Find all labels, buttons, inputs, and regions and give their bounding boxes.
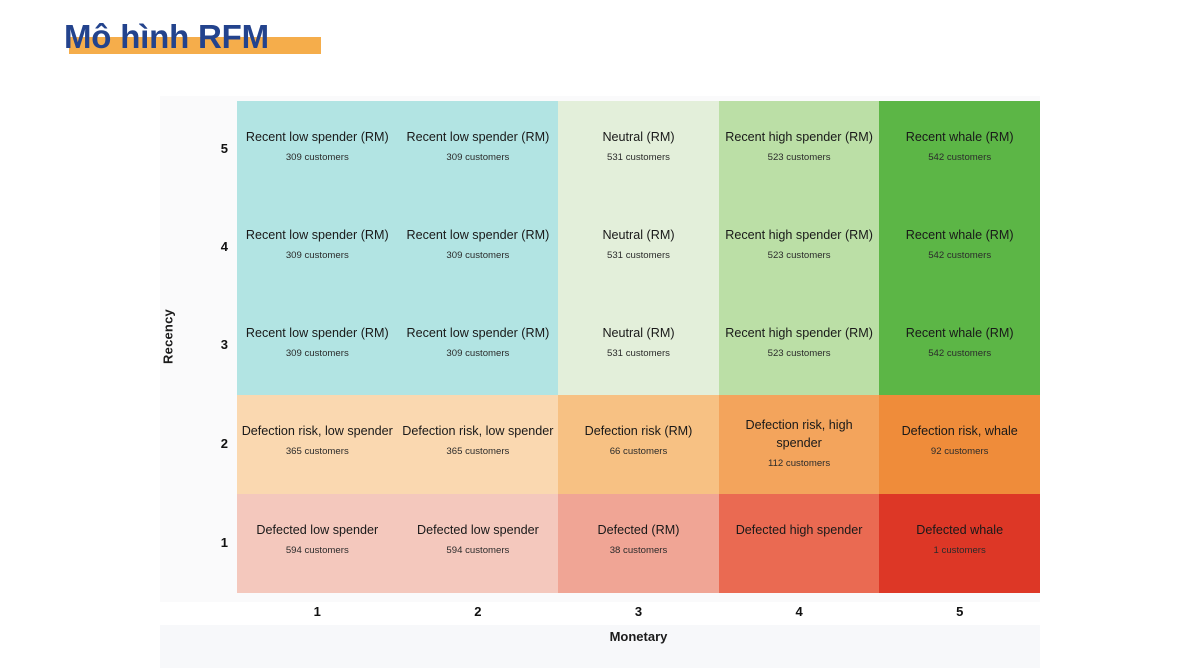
cell-customer-count: 542 customers bbox=[879, 348, 1040, 360]
x-axis-tick: 3 bbox=[599, 604, 679, 619]
heatmap-cell[interactable]: Recent high spender (RM)523 customers bbox=[719, 297, 880, 395]
heatmap-cell[interactable]: Defected high spender bbox=[719, 494, 880, 593]
cell-label: Defected whale bbox=[879, 521, 1040, 539]
heatmap-cell[interactable]: Defection risk, high spender112 customer… bbox=[719, 395, 880, 494]
page-title: Mô hình RFM bbox=[64, 18, 269, 56]
cell-label: Recent low spender (RM) bbox=[237, 226, 398, 244]
heatmap-cell[interactable]: Recent whale (RM)542 customers bbox=[879, 199, 1040, 297]
cell-customer-count: 66 customers bbox=[558, 446, 719, 458]
cell-customer-count: 365 customers bbox=[398, 446, 559, 458]
heatmap-row: Defection risk, low spender365 customers… bbox=[237, 395, 1040, 494]
y-axis-tick: 2 bbox=[188, 436, 228, 451]
heatmap-cell[interactable]: Recent low spender (RM)309 customers bbox=[398, 297, 559, 395]
heatmap-cell[interactable]: Defected low spender594 customers bbox=[237, 494, 398, 593]
cell-label: Defected (RM) bbox=[558, 521, 719, 539]
heatmap-cell[interactable]: Neutral (RM)531 customers bbox=[558, 199, 719, 297]
cell-customer-count: 112 customers bbox=[719, 458, 880, 470]
heatmap-row: Recent low spender (RM)309 customersRece… bbox=[237, 297, 1040, 395]
cell-customer-count: 309 customers bbox=[237, 250, 398, 262]
heatmap-cell[interactable]: Recent low spender (RM)309 customers bbox=[237, 101, 398, 199]
heatmap-cell[interactable]: Recent whale (RM)542 customers bbox=[879, 297, 1040, 395]
cell-customer-count: 594 customers bbox=[398, 545, 559, 557]
cell-label: Recent low spender (RM) bbox=[237, 128, 398, 146]
cell-label: Recent whale (RM) bbox=[879, 324, 1040, 342]
cell-label: Recent low spender (RM) bbox=[398, 226, 559, 244]
cell-customer-count: 523 customers bbox=[719, 152, 880, 164]
cell-customer-count: 523 customers bbox=[719, 250, 880, 262]
cell-label: Defection risk, low spender bbox=[398, 422, 559, 440]
y-axis-tick: 3 bbox=[188, 337, 228, 352]
heatmap-cell[interactable]: Recent high spender (RM)523 customers bbox=[719, 101, 880, 199]
cell-customer-count: 542 customers bbox=[879, 250, 1040, 262]
cell-customer-count: 365 customers bbox=[237, 446, 398, 458]
x-axis-tick: 5 bbox=[920, 604, 1000, 619]
heatmap-row: Defected low spender594 customersDefecte… bbox=[237, 494, 1040, 593]
heatmap-cell[interactable]: Defected (RM)38 customers bbox=[558, 494, 719, 593]
cell-label: Recent high spender (RM) bbox=[719, 226, 880, 244]
heatmap-cell[interactable]: Neutral (RM)531 customers bbox=[558, 297, 719, 395]
cell-label: Defection risk, whale bbox=[879, 422, 1040, 440]
cell-label: Neutral (RM) bbox=[558, 226, 719, 244]
heatmap-cell[interactable]: Neutral (RM)531 customers bbox=[558, 101, 719, 199]
x-axis-label: Monetary bbox=[237, 629, 1040, 644]
cell-customer-count: 531 customers bbox=[558, 250, 719, 262]
cell-customer-count: 309 customers bbox=[237, 152, 398, 164]
y-axis-tick: 4 bbox=[188, 239, 228, 254]
cell-customer-count: 38 customers bbox=[558, 545, 719, 557]
x-axis-tick: 4 bbox=[759, 604, 839, 619]
cell-label: Recent low spender (RM) bbox=[237, 324, 398, 342]
cell-label: Recent high spender (RM) bbox=[719, 324, 880, 342]
y-axis-tick: 1 bbox=[188, 535, 228, 550]
heatmap-cell[interactable]: Defected whale1 customers bbox=[879, 494, 1040, 593]
cell-customer-count: 309 customers bbox=[398, 348, 559, 360]
rfm-heatmap-chart: Recency 54321 Recent low spender (RM)309… bbox=[160, 96, 1040, 664]
cell-label: Defection risk (RM) bbox=[558, 422, 719, 440]
heatmap-cell[interactable]: Defection risk, low spender365 customers bbox=[237, 395, 398, 494]
heatmap-cell[interactable]: Recent low spender (RM)309 customers bbox=[398, 199, 559, 297]
cell-customer-count: 1 customers bbox=[879, 545, 1040, 557]
cell-label: Recent low spender (RM) bbox=[398, 324, 559, 342]
heatmap-cell[interactable]: Defection risk, low spender365 customers bbox=[398, 395, 559, 494]
title-text: Mô hình RFM bbox=[64, 18, 269, 56]
cell-label: Defected low spender bbox=[237, 521, 398, 539]
y-axis-tick: 5 bbox=[188, 141, 228, 156]
heatmap-row: Recent low spender (RM)309 customersRece… bbox=[237, 101, 1040, 199]
x-axis-tick: 1 bbox=[277, 604, 357, 619]
cell-customer-count: 594 customers bbox=[237, 545, 398, 557]
y-axis-label: Recency bbox=[161, 187, 176, 487]
heatmap-cell[interactable]: Recent whale (RM)542 customers bbox=[879, 101, 1040, 199]
cell-label: Defection risk, high spender bbox=[719, 416, 880, 452]
cell-label: Defected high spender bbox=[719, 521, 880, 539]
cell-label: Defected low spender bbox=[398, 521, 559, 539]
cell-customer-count: 309 customers bbox=[398, 250, 559, 262]
heatmap-cell[interactable]: Recent low spender (RM)309 customers bbox=[398, 101, 559, 199]
heatmap-row: Recent low spender (RM)309 customersRece… bbox=[237, 199, 1040, 297]
cell-label: Recent high spender (RM) bbox=[719, 128, 880, 146]
heatmap-cell[interactable]: Recent high spender (RM)523 customers bbox=[719, 199, 880, 297]
cell-customer-count: 531 customers bbox=[558, 348, 719, 360]
heatmap-grid: Recent low spender (RM)309 customersRece… bbox=[237, 101, 1040, 597]
x-axis-tick: 2 bbox=[438, 604, 518, 619]
cell-customer-count: 542 customers bbox=[879, 152, 1040, 164]
cell-customer-count: 309 customers bbox=[237, 348, 398, 360]
heatmap-cell[interactable]: Defection risk, whale92 customers bbox=[879, 395, 1040, 494]
cell-label: Recent low spender (RM) bbox=[398, 128, 559, 146]
cell-label: Neutral (RM) bbox=[558, 324, 719, 342]
heatmap-cell[interactable]: Defected low spender594 customers bbox=[398, 494, 559, 593]
cell-customer-count: 531 customers bbox=[558, 152, 719, 164]
cell-label: Neutral (RM) bbox=[558, 128, 719, 146]
cell-customer-count: 309 customers bbox=[398, 152, 559, 164]
heatmap-cell[interactable]: Defection risk (RM)66 customers bbox=[558, 395, 719, 494]
cell-label: Defection risk, low spender bbox=[237, 422, 398, 440]
heatmap-cell[interactable]: Recent low spender (RM)309 customers bbox=[237, 297, 398, 395]
cell-customer-count: 523 customers bbox=[719, 348, 880, 360]
cell-label: Recent whale (RM) bbox=[879, 128, 1040, 146]
cell-label: Recent whale (RM) bbox=[879, 226, 1040, 244]
cell-customer-count: 92 customers bbox=[879, 446, 1040, 458]
heatmap-cell[interactable]: Recent low spender (RM)309 customers bbox=[237, 199, 398, 297]
